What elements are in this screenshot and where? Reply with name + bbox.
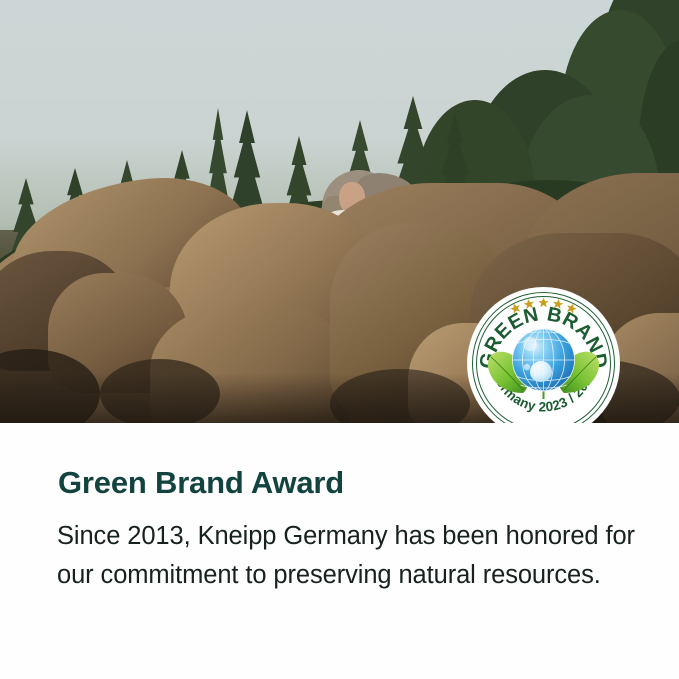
award-text-section: Green Brand Award Since 2013, Kneipp Ger… [0, 423, 679, 679]
page-title: Green Brand Award [58, 467, 344, 498]
globe-specular-highlight [523, 337, 537, 351]
green-brand-award-card: GREEN BRAND Germany 2023 / 2024 [0, 0, 679, 679]
award-description: Since 2013, Kneipp Germany has been hono… [57, 517, 657, 595]
globe-small-highlight [524, 364, 530, 370]
green-brand-badge: GREEN BRAND Germany 2023 / 2024 [467, 287, 620, 440]
